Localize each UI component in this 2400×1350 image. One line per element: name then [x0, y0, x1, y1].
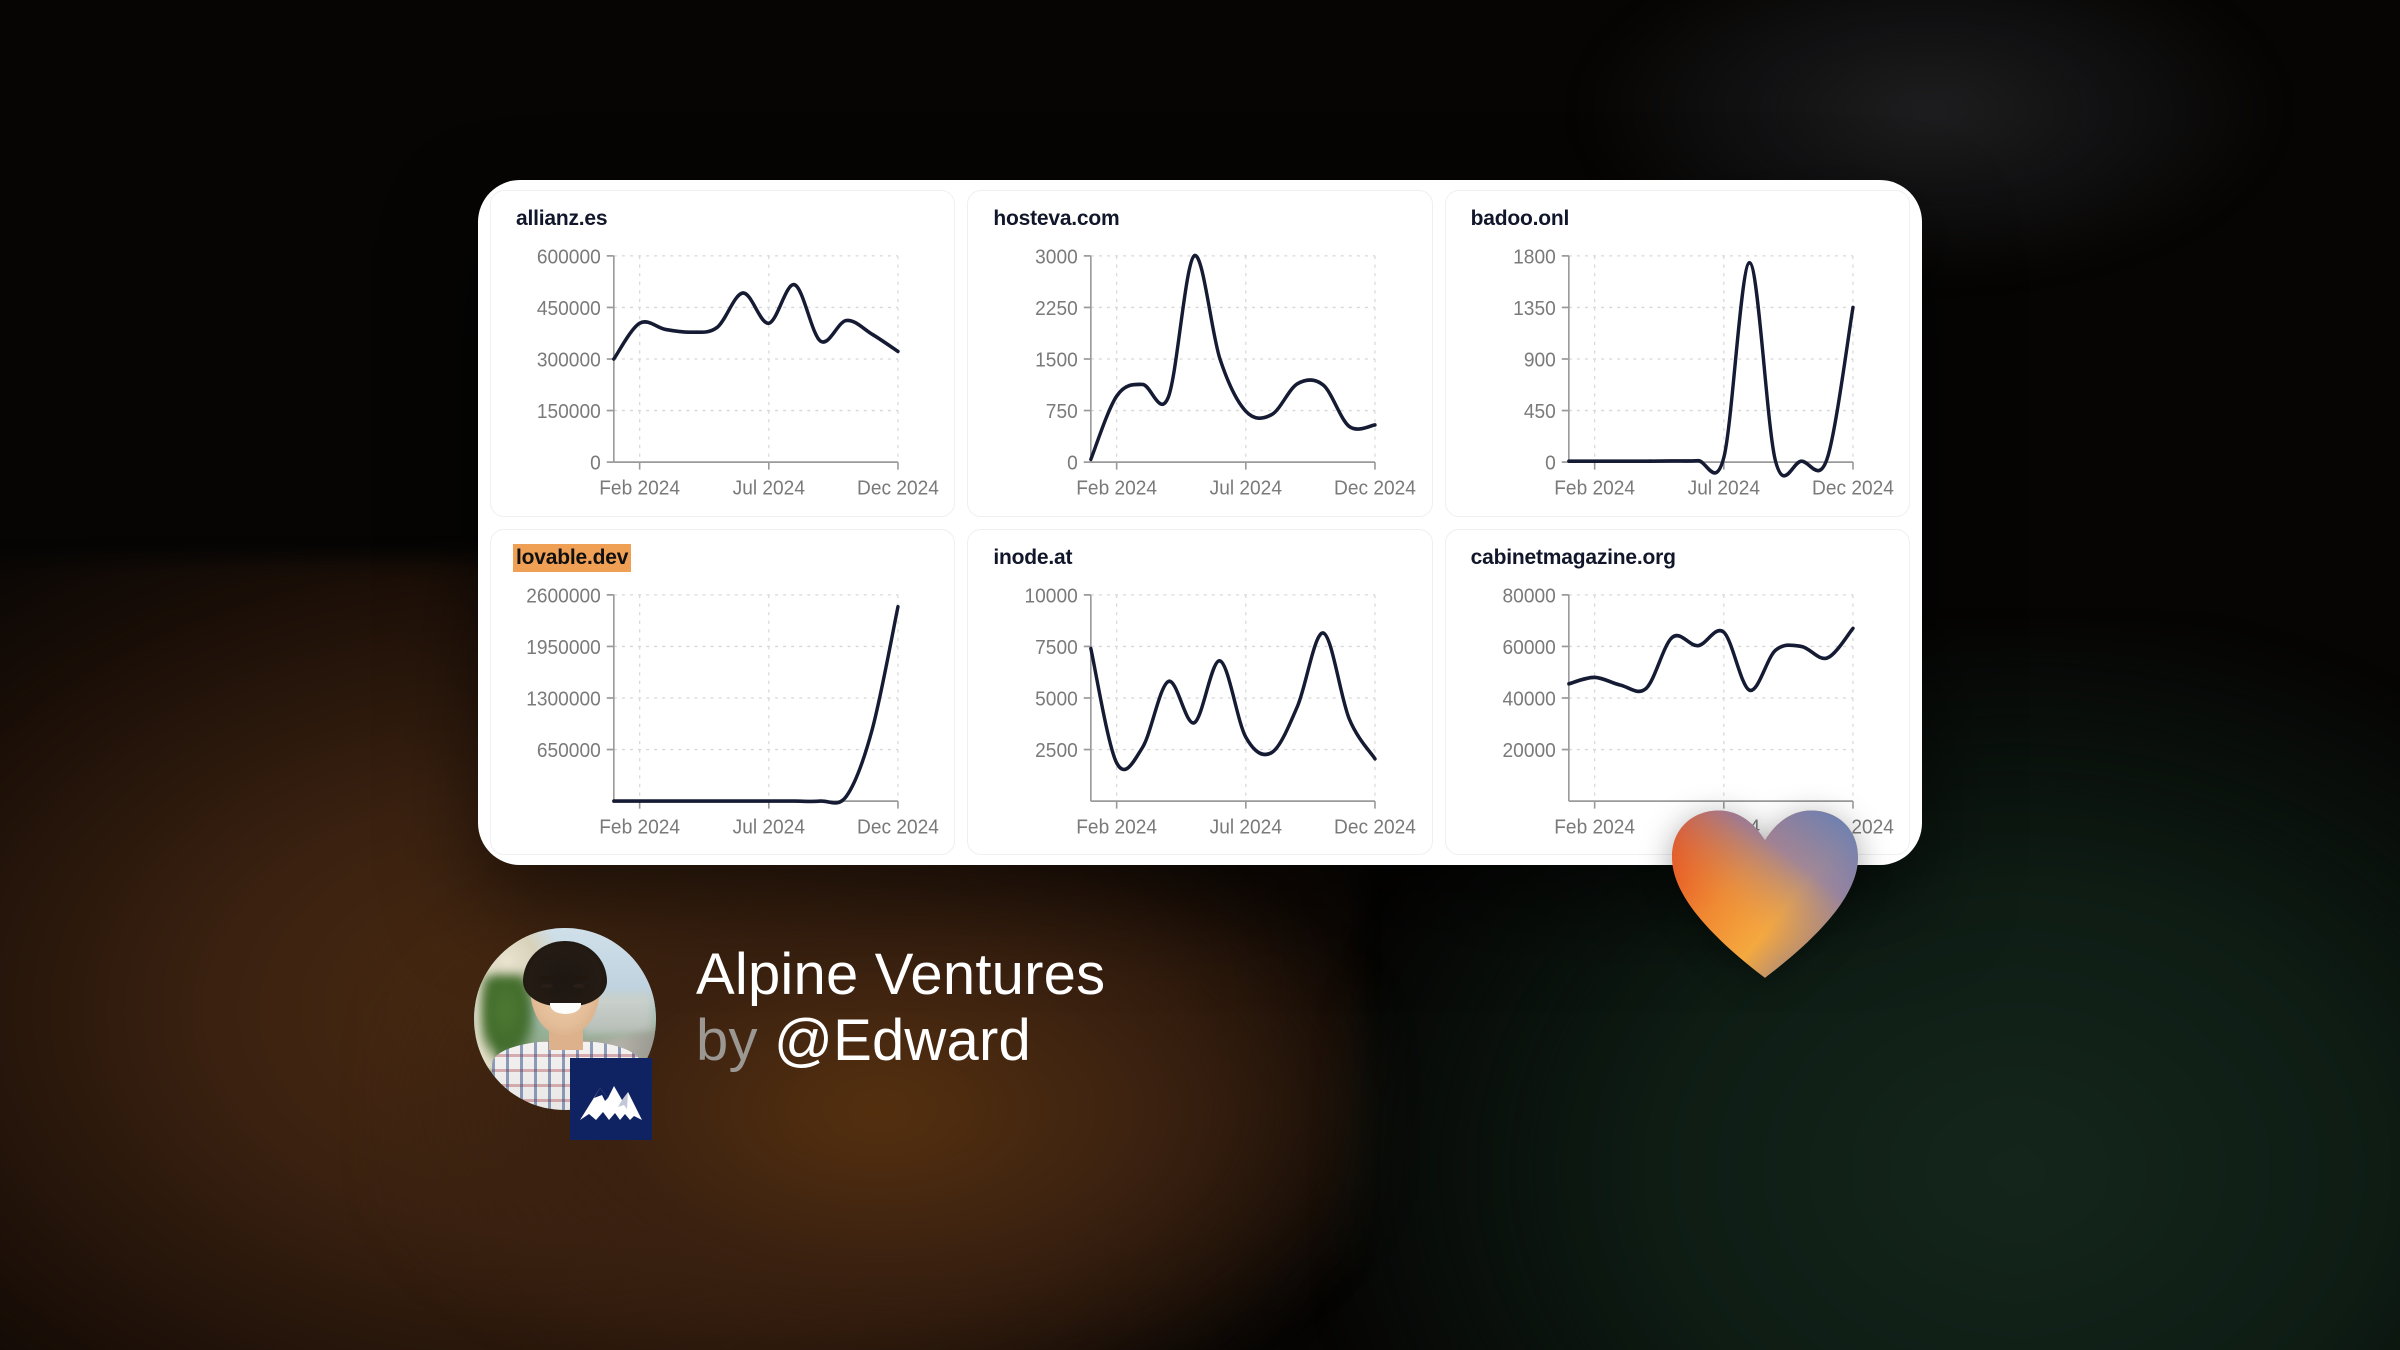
- svg-text:7500: 7500: [1036, 636, 1079, 659]
- heart-icon: [1672, 810, 1858, 982]
- avatar-brow-left: [539, 976, 555, 980]
- chart-plot-area: 650000130000019500002600000Feb 2024Jul 2…: [503, 582, 946, 851]
- svg-text:300000: 300000: [537, 349, 601, 372]
- by-label: by: [696, 1008, 758, 1073]
- svg-text:Jul 2024: Jul 2024: [1687, 477, 1759, 500]
- author-handle: @Edward: [774, 1008, 1031, 1073]
- svg-text:Jul 2024: Jul 2024: [1210, 477, 1282, 500]
- svg-text:Dec 2024: Dec 2024: [1334, 477, 1416, 500]
- svg-text:Jul 2024: Jul 2024: [733, 815, 805, 838]
- svg-text:Dec 2024: Dec 2024: [1812, 477, 1894, 500]
- chart-plot-area: 045090013501800Feb 2024Jul 2024Dec 2024: [1458, 243, 1901, 512]
- svg-text:Feb 2024: Feb 2024: [599, 477, 680, 500]
- chart-title: inode.at: [990, 544, 1075, 572]
- chart-panel-inode-at[interactable]: inode.at25005000750010000Feb 2024Jul 202…: [967, 529, 1432, 856]
- chart-panel-allianz-es[interactable]: allianz.es0150000300000450000600000Feb 2…: [490, 190, 955, 517]
- svg-text:2500: 2500: [1036, 739, 1079, 762]
- svg-text:450: 450: [1523, 401, 1555, 424]
- svg-text:40000: 40000: [1502, 687, 1555, 710]
- svg-text:1300000: 1300000: [526, 687, 600, 710]
- avatar-eye-right: [573, 984, 585, 989]
- svg-text:150000: 150000: [537, 401, 601, 424]
- series-line: [1091, 256, 1375, 460]
- series-line: [1568, 628, 1852, 691]
- chart-panel-grid: allianz.es0150000300000450000600000Feb 2…: [478, 180, 1922, 865]
- svg-text:80000: 80000: [1502, 584, 1555, 607]
- svg-text:20000: 20000: [1502, 739, 1555, 762]
- chart-plot-area: 0750150022503000Feb 2024Jul 2024Dec 2024: [980, 243, 1423, 512]
- svg-text:0: 0: [1545, 452, 1556, 475]
- svg-text:2250: 2250: [1036, 297, 1079, 320]
- svg-text:Feb 2024: Feb 2024: [1554, 815, 1635, 838]
- chart-panel-hosteva-com[interactable]: hosteva.com0750150022503000Feb 2024Jul 2…: [967, 190, 1432, 517]
- mountain-logo-icon: [570, 1058, 652, 1140]
- svg-text:650000: 650000: [537, 739, 601, 762]
- svg-text:Feb 2024: Feb 2024: [1554, 477, 1635, 500]
- svg-text:Feb 2024: Feb 2024: [599, 815, 680, 838]
- chart-panel-cabinetmagazine-org[interactable]: cabinetmagazine.org20000400006000080000F…: [1445, 529, 1910, 856]
- chart-title: lovable.dev: [513, 544, 631, 572]
- svg-text:60000: 60000: [1502, 636, 1555, 659]
- series-line: [614, 606, 898, 802]
- svg-text:1800: 1800: [1513, 246, 1556, 269]
- svg-text:Feb 2024: Feb 2024: [1077, 815, 1158, 838]
- svg-text:750: 750: [1046, 401, 1078, 424]
- svg-text:1350: 1350: [1513, 297, 1556, 320]
- footer-text: Alpine Ventures by @Edward: [696, 928, 1105, 1074]
- dashboard-card: allianz.es0150000300000450000600000Feb 2…: [478, 180, 1922, 865]
- svg-text:0: 0: [590, 452, 601, 475]
- svg-text:3000: 3000: [1036, 246, 1079, 269]
- svg-text:Dec 2024: Dec 2024: [857, 815, 939, 838]
- svg-text:5000: 5000: [1036, 687, 1079, 710]
- svg-text:10000: 10000: [1025, 584, 1078, 607]
- project-title-line: Alpine Ventures: [696, 942, 1105, 1008]
- chart-plot-area: 25005000750010000Feb 2024Jul 2024Dec 202…: [980, 582, 1423, 851]
- svg-text:2600000: 2600000: [526, 584, 600, 607]
- chart-panel-lovable-dev[interactable]: lovable.dev650000130000019500002600000Fe…: [490, 529, 955, 856]
- svg-text:1500: 1500: [1036, 349, 1079, 372]
- svg-text:Jul 2024: Jul 2024: [1210, 815, 1282, 838]
- footer-attribution: Alpine Ventures by @Edward: [470, 928, 1105, 1143]
- avatar-stack: [470, 928, 656, 1143]
- project-title: Alpine Ventures: [696, 942, 1105, 1007]
- svg-text:Dec 2024: Dec 2024: [857, 477, 939, 500]
- svg-text:450000: 450000: [537, 297, 601, 320]
- svg-text:900: 900: [1523, 349, 1555, 372]
- chart-title: allianz.es: [513, 205, 610, 233]
- avatar-brow-right: [570, 976, 586, 980]
- svg-text:Jul 2024: Jul 2024: [733, 477, 805, 500]
- chart-plot-area: 0150000300000450000600000Feb 2024Jul 202…: [503, 243, 946, 512]
- svg-text:Dec 2024: Dec 2024: [1334, 815, 1416, 838]
- series-line: [1568, 263, 1852, 476]
- chart-title: cabinetmagazine.org: [1468, 544, 1679, 572]
- chart-title: hosteva.com: [990, 205, 1122, 233]
- chart-title: badoo.onl: [1468, 205, 1573, 233]
- chart-panel-badoo-onl[interactable]: badoo.onl045090013501800Feb 2024Jul 2024…: [1445, 190, 1910, 517]
- svg-text:Feb 2024: Feb 2024: [1077, 477, 1158, 500]
- series-line: [614, 285, 898, 359]
- svg-text:0: 0: [1067, 452, 1078, 475]
- svg-text:1950000: 1950000: [526, 636, 600, 659]
- svg-text:600000: 600000: [537, 246, 601, 269]
- author-line: by @Edward: [696, 1008, 1105, 1074]
